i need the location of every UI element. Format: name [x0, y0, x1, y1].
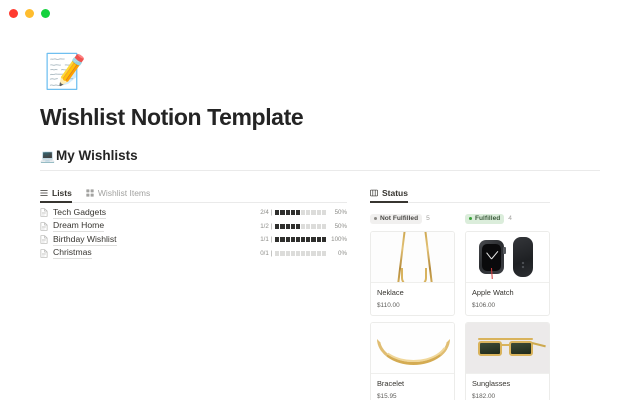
status-dot-icon [374, 217, 377, 220]
progress-block [286, 251, 290, 256]
list-item-percent: 50% [329, 209, 347, 216]
progress-block [275, 210, 279, 215]
progress-bar [275, 224, 326, 229]
list-item-title[interactable]: Tech Gadgets [53, 207, 106, 219]
item-card[interactable]: Sunglasses$182.00 [465, 322, 550, 400]
list-item[interactable]: Dream Home1/2 |50% [40, 220, 347, 234]
status-badge[interactable]: Not Fulfilled [370, 214, 422, 224]
item-card-title: Bracelet [377, 379, 448, 388]
minimize-window-button[interactable] [25, 9, 34, 18]
list-item[interactable]: Christmas0/1 |0% [40, 247, 347, 261]
progress-block [311, 237, 315, 242]
status-badge-label: Not Fulfilled [380, 215, 418, 222]
progress-block [296, 237, 300, 242]
progress-block [311, 210, 315, 215]
list-item-fraction: 0/1 | [260, 250, 272, 257]
lists-view-tabbar: Lists Wishlist Items [40, 182, 347, 203]
status-badge-label: Fulfilled [475, 215, 500, 222]
progress-block [296, 210, 300, 215]
item-card-image [466, 232, 549, 283]
page-doc-icon [40, 249, 53, 258]
status-dot-icon [469, 217, 472, 220]
lists-panel: Lists Wishlist Items [40, 171, 347, 400]
sunglasses-photo [466, 323, 549, 373]
progress-block [306, 224, 310, 229]
list-item-fraction: 1/1 | [260, 236, 272, 243]
list-item-title[interactable]: Dream Home [53, 220, 104, 232]
item-card-price: $110.00 [377, 302, 448, 309]
progress-block [311, 224, 315, 229]
list-item-title[interactable]: Christmas [53, 247, 92, 259]
item-card[interactable]: Neklace$110.00 [370, 231, 455, 316]
list-icon [40, 189, 48, 197]
wishlist-rows: Tech Gadgets2/4 |50%Dream Home1/2 |50%Bi… [40, 206, 347, 260]
item-card-price: $182.00 [472, 393, 543, 400]
page-icon-emoji[interactable]: 📝 [44, 52, 84, 92]
progress-block [275, 237, 279, 242]
progress-block [291, 224, 295, 229]
progress-block [306, 210, 310, 215]
item-card-price: $106.00 [472, 302, 543, 309]
item-card-image [371, 323, 454, 374]
progress-block [291, 237, 295, 242]
close-window-button[interactable] [9, 9, 18, 18]
progress-block [280, 210, 284, 215]
list-item-fraction: 1/2 | [260, 223, 272, 230]
progress-block [286, 224, 290, 229]
progress-block [311, 251, 315, 256]
item-card[interactable]: Apple Watch$106.00 [465, 231, 550, 316]
progress-block [286, 210, 290, 215]
item-card-title: Apple Watch [472, 288, 543, 297]
progress-block [280, 237, 284, 242]
status-group: Fulfilled4Apple Watch$106.00Sunglasses$1… [465, 212, 550, 400]
progress-bar [275, 237, 326, 242]
page-title[interactable]: Wishlist Notion Template [40, 104, 640, 131]
item-card-body: Bracelet$15.95 [371, 374, 454, 400]
item-card-price: $15.95 [377, 393, 448, 400]
item-card-image [466, 323, 549, 374]
status-board-groups: Not Fulfilled5Neklace$110.00Bracelet$15.… [370, 212, 550, 400]
progress-block [275, 224, 279, 229]
status-badge[interactable]: Fulfilled [465, 214, 504, 224]
progress-block [291, 251, 295, 256]
progress-block [280, 251, 284, 256]
necklace-photo [371, 232, 454, 282]
progress-bar [275, 251, 326, 256]
progress-block [286, 237, 290, 242]
board-icon [370, 189, 378, 197]
progress-block [322, 251, 326, 256]
section-heading-label: My Wishlists [56, 148, 138, 163]
progress-block [317, 251, 321, 256]
item-card-body: Sunglasses$182.00 [466, 374, 549, 400]
tab-lists[interactable]: Lists [40, 188, 72, 202]
progress-block [301, 224, 305, 229]
page-doc-icon [40, 235, 53, 244]
list-item-percent: 100% [329, 236, 347, 243]
tab-status[interactable]: Status [370, 188, 408, 202]
progress-bar [275, 210, 326, 215]
tab-lists-label: Lists [52, 188, 72, 198]
section-heading: 💻 My Wishlists [40, 148, 640, 163]
status-group-count: 4 [508, 215, 512, 222]
status-view-tabbar: Status [370, 182, 550, 203]
status-panel: Status Not Fulfilled5Neklace$110.00Brace… [370, 171, 550, 400]
content-columns: Lists Wishlist Items [40, 171, 602, 400]
list-item-fraction: 2/4 | [260, 209, 272, 216]
list-item-title[interactable]: Birthday Wishlist [53, 234, 117, 246]
item-card-image [371, 232, 454, 283]
status-group: Not Fulfilled5Neklace$110.00Bracelet$15.… [370, 212, 455, 400]
progress-block [291, 210, 295, 215]
progress-block [306, 237, 310, 242]
progress-block [317, 237, 321, 242]
list-item-percent: 50% [329, 223, 347, 230]
progress-block [275, 251, 279, 256]
status-group-header: Not Fulfilled5 [370, 212, 455, 225]
tab-wishlist-items-label: Wishlist Items [98, 188, 150, 198]
status-group-count: 5 [426, 215, 430, 222]
laptop-emoji: 💻 [40, 150, 55, 162]
progress-block [322, 237, 326, 242]
item-card-body: Neklace$110.00 [371, 283, 454, 315]
notion-page: 📝 Wishlist Notion Template 💻 My Wishlist… [0, 52, 640, 400]
progress-block [296, 224, 300, 229]
tab-status-label: Status [382, 188, 408, 198]
list-item-percent: 0% [329, 250, 347, 257]
progress-block [322, 210, 326, 215]
progress-block [306, 251, 310, 256]
list-item[interactable]: Tech Gadgets2/4 |50% [40, 206, 347, 220]
progress-block [322, 224, 326, 229]
item-card[interactable]: Bracelet$15.95 [370, 322, 455, 400]
item-card-title: Neklace [377, 288, 448, 297]
progress-block [317, 210, 321, 215]
apple-watch-photo [466, 232, 549, 282]
bracelet-photo [371, 323, 454, 373]
progress-block [301, 237, 305, 242]
tab-wishlist-items[interactable]: Wishlist Items [86, 188, 150, 202]
item-card-body: Apple Watch$106.00 [466, 283, 549, 315]
page-doc-icon [40, 208, 53, 217]
progress-block [301, 251, 305, 256]
page-doc-icon [40, 222, 53, 231]
grid-icon [86, 189, 94, 197]
zoom-window-button[interactable] [41, 9, 50, 18]
progress-block [301, 210, 305, 215]
progress-block [280, 224, 284, 229]
status-group-header: Fulfilled4 [465, 212, 550, 225]
item-card-title: Sunglasses [472, 379, 543, 388]
progress-block [317, 224, 321, 229]
list-item[interactable]: Birthday Wishlist1/1 |100% [40, 233, 347, 247]
progress-block [296, 251, 300, 256]
window-titlebar [0, 0, 640, 26]
